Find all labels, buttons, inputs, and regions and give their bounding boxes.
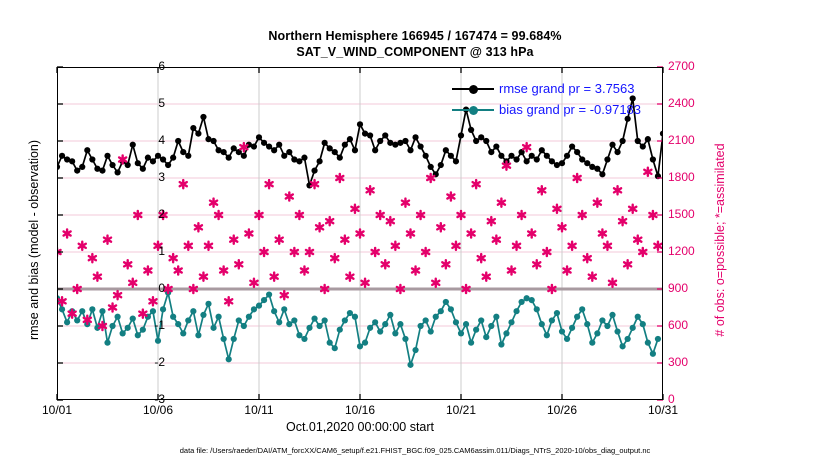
y-tick-right-2: 2100 xyxy=(668,133,714,147)
legend-label-rmse: rmse grand pr = 3.7563 xyxy=(499,81,635,96)
x-tick-3: 10/16 xyxy=(325,403,395,417)
y-tick-right-6: 900 xyxy=(668,281,714,295)
y-tick-left-7: -1 xyxy=(125,318,165,332)
y-tick-left-5: 1 xyxy=(125,244,165,258)
legend-swatch-rmse xyxy=(452,82,494,96)
y-tick-right-4: 1500 xyxy=(668,207,714,221)
x-tick-1: 10/06 xyxy=(123,403,193,417)
y-tick-left-4: 2 xyxy=(125,207,165,221)
y-tick-left-2: 4 xyxy=(125,133,165,147)
y-axis-left-label: rmse and bias (model - observation) xyxy=(27,80,41,400)
y-tick-left-0: 6 xyxy=(125,59,165,73)
y-tick-right-0: 2700 xyxy=(668,59,714,73)
x-axis-label: Oct.01,2020 00:00:00 start xyxy=(57,420,663,434)
legend-label-bias: bias grand pr = -0.97183 xyxy=(499,102,641,117)
y-tick-right-1: 2400 xyxy=(668,96,714,110)
x-tick-6: 10/31 xyxy=(628,403,698,417)
data-file-caption: data file: /Users/raeder/DAI/ATM_forcXX/… xyxy=(0,446,830,455)
y-tick-right-7: 600 xyxy=(668,318,714,332)
x-tick-5: 10/26 xyxy=(527,403,597,417)
legend-item-rmse[interactable]: rmse grand pr = 3.7563 xyxy=(452,79,641,98)
y-tick-left-1: 5 xyxy=(125,96,165,110)
figure-canvas: Northern Hemisphere 166945 / 167474 = 99… xyxy=(0,0,830,470)
x-tick-0: 10/01 xyxy=(22,403,92,417)
chart-legend: rmse grand pr = 3.7563 bias grand pr = -… xyxy=(452,79,641,119)
y-tick-right-8: 300 xyxy=(668,355,714,369)
y-tick-left-8: -2 xyxy=(125,355,165,369)
y-tick-right-5: 1200 xyxy=(668,244,714,258)
x-tick-2: 10/11 xyxy=(224,403,294,417)
y-tick-left-6: 0 xyxy=(125,281,165,295)
legend-item-bias[interactable]: bias grand pr = -0.97183 xyxy=(452,100,641,119)
x-tick-4: 10/21 xyxy=(426,403,496,417)
y-tick-right-3: 1800 xyxy=(668,170,714,184)
y-axis-right-label: # of obs: o=possible; *=assimilated xyxy=(713,80,727,400)
y-tick-left-3: 3 xyxy=(125,170,165,184)
legend-swatch-bias xyxy=(452,103,494,117)
